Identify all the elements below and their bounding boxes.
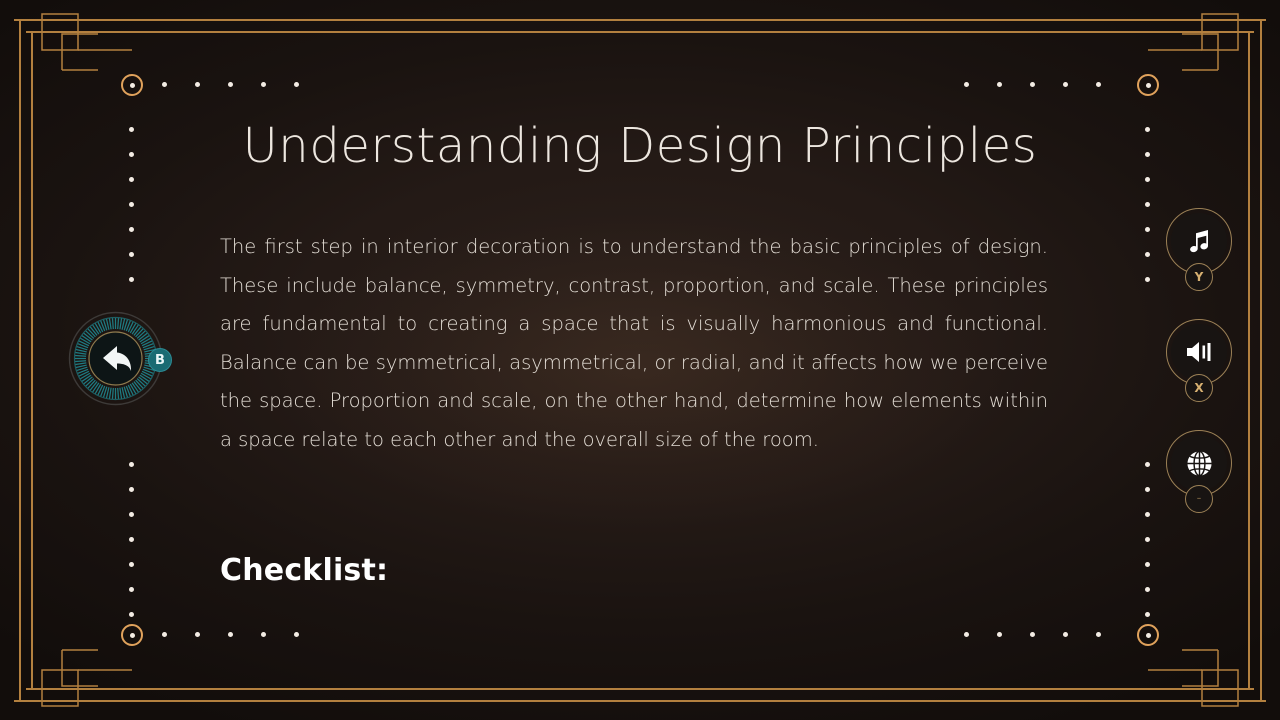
decorative-dot [1145, 277, 1150, 282]
language-button-badge: – [1185, 485, 1213, 513]
decorative-dot [129, 562, 134, 567]
decorative-dot [129, 587, 134, 592]
decorative-dot [162, 632, 167, 637]
frame-line-inner-bottom [26, 688, 1254, 690]
corner-ornament-bottom-right [1148, 616, 1240, 708]
volume-button-badge: X [1185, 374, 1213, 402]
music-button-core [1171, 213, 1227, 269]
decorative-dot [1030, 82, 1035, 87]
decorative-dot [294, 632, 299, 637]
decorative-dot [1063, 82, 1068, 87]
decorative-dot [162, 82, 167, 87]
language-button-core [1171, 435, 1227, 491]
decorative-dot [1096, 632, 1101, 637]
volume-button-core [1171, 324, 1227, 380]
corner-ornament-bottom-left [40, 616, 132, 708]
decorative-dot [195, 632, 200, 637]
back-button-badge: B [148, 348, 172, 372]
page-title: Understanding Design Principles [0, 118, 1280, 174]
globe-icon [1186, 450, 1213, 477]
decorative-dot [997, 82, 1002, 87]
decorative-dot [195, 82, 200, 87]
decorative-dot [1030, 632, 1035, 637]
decorative-dot [129, 462, 134, 467]
decorative-dot [1145, 537, 1150, 542]
decorative-dot [261, 82, 266, 87]
ring-marker-top-right [1137, 74, 1159, 96]
music-button-badge: Y [1185, 263, 1213, 291]
decorative-dot [1145, 177, 1150, 182]
decorative-dot [129, 277, 134, 282]
body-text-block: The first step in interior decoration is… [220, 228, 1048, 460]
corner-ornament-top-left [40, 12, 132, 104]
body-paragraph: The first step in interior decoration is… [220, 228, 1048, 460]
decorative-dot [129, 537, 134, 542]
decorative-dot [129, 252, 134, 257]
decorative-dot [129, 202, 134, 207]
decorative-dot [1145, 612, 1150, 617]
decorative-dot [261, 632, 266, 637]
decorative-dot [1145, 202, 1150, 207]
volume-speaker-icon [1184, 339, 1214, 365]
decorative-dot [1145, 462, 1150, 467]
decorative-dot [129, 512, 134, 517]
decorative-dot [964, 632, 969, 637]
corner-ornament-top-right [1148, 12, 1240, 104]
decorative-dot [1145, 227, 1150, 232]
decorative-dot [129, 612, 134, 617]
ring-marker-top-left [121, 74, 143, 96]
decorative-dot [1063, 632, 1068, 637]
decorative-dot [129, 227, 134, 232]
decorative-dot [1145, 587, 1150, 592]
music-note-icon [1185, 227, 1213, 255]
decorative-dot [1145, 512, 1150, 517]
frame-line-outer-top [14, 19, 1266, 21]
decorative-dot [1145, 252, 1150, 257]
decorative-dot [1096, 82, 1101, 87]
decorative-dot [228, 82, 233, 87]
music-button[interactable]: Y [1166, 208, 1232, 274]
frame-line-outer-bottom [14, 700, 1266, 702]
decorative-dot [129, 177, 134, 182]
ring-marker-bottom-right [1137, 624, 1159, 646]
slide-canvas: Understanding Design Principles The firs… [0, 0, 1280, 720]
language-button[interactable]: – [1166, 430, 1232, 496]
decorative-dot [129, 487, 134, 492]
ring-marker-bottom-left [121, 624, 143, 646]
decorative-dot [294, 82, 299, 87]
decorative-dot [1145, 487, 1150, 492]
decorative-dot [964, 82, 969, 87]
decorative-dot [228, 632, 233, 637]
decorative-dot [1145, 562, 1150, 567]
frame-line-inner-top [26, 31, 1254, 33]
checklist-heading: Checklist: [220, 553, 388, 588]
volume-button[interactable]: X [1166, 319, 1232, 385]
decorative-dot [997, 632, 1002, 637]
